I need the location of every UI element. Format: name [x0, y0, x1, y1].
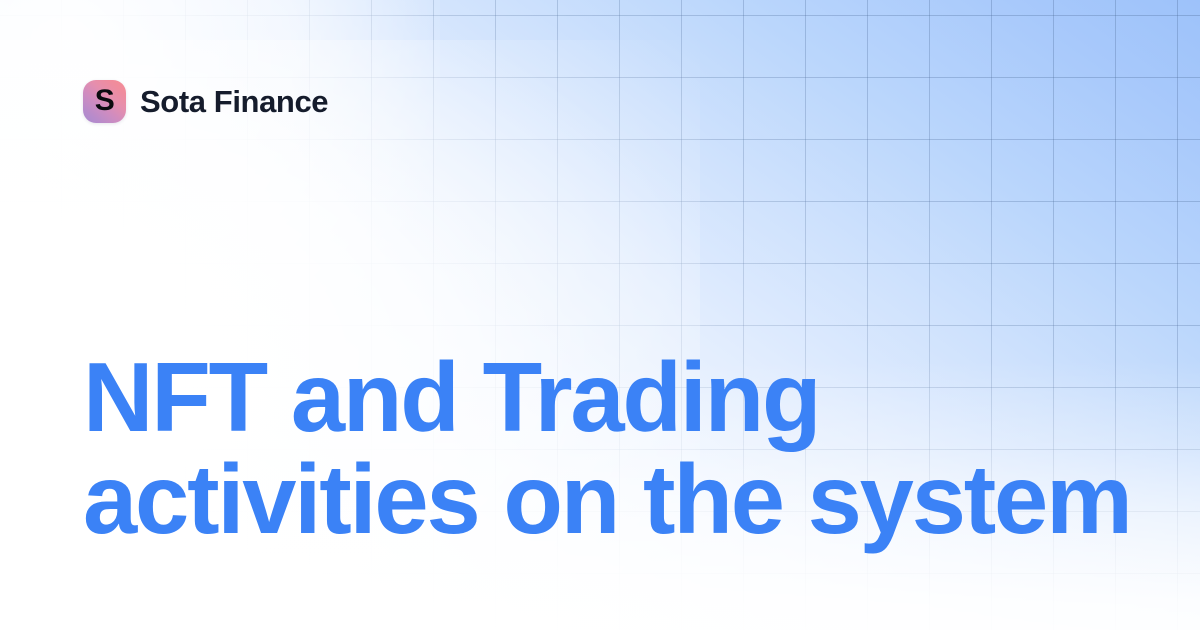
card-content: S Sota Finance NFT and Trading activitie… [0, 0, 1200, 630]
headline-line-2: activities on the system [83, 450, 1118, 548]
headline-line-1: NFT and Trading [83, 348, 1118, 446]
sota-logo-icon: S [83, 80, 126, 123]
og-banner-card: S Sota Finance NFT and Trading activitie… [0, 0, 1200, 630]
brand-name: Sota Finance [140, 86, 328, 117]
logo-letter: S [95, 86, 115, 116]
page-title: NFT and Trading activities on the system [83, 348, 1123, 548]
brand-lockup: S Sota Finance [83, 80, 328, 123]
